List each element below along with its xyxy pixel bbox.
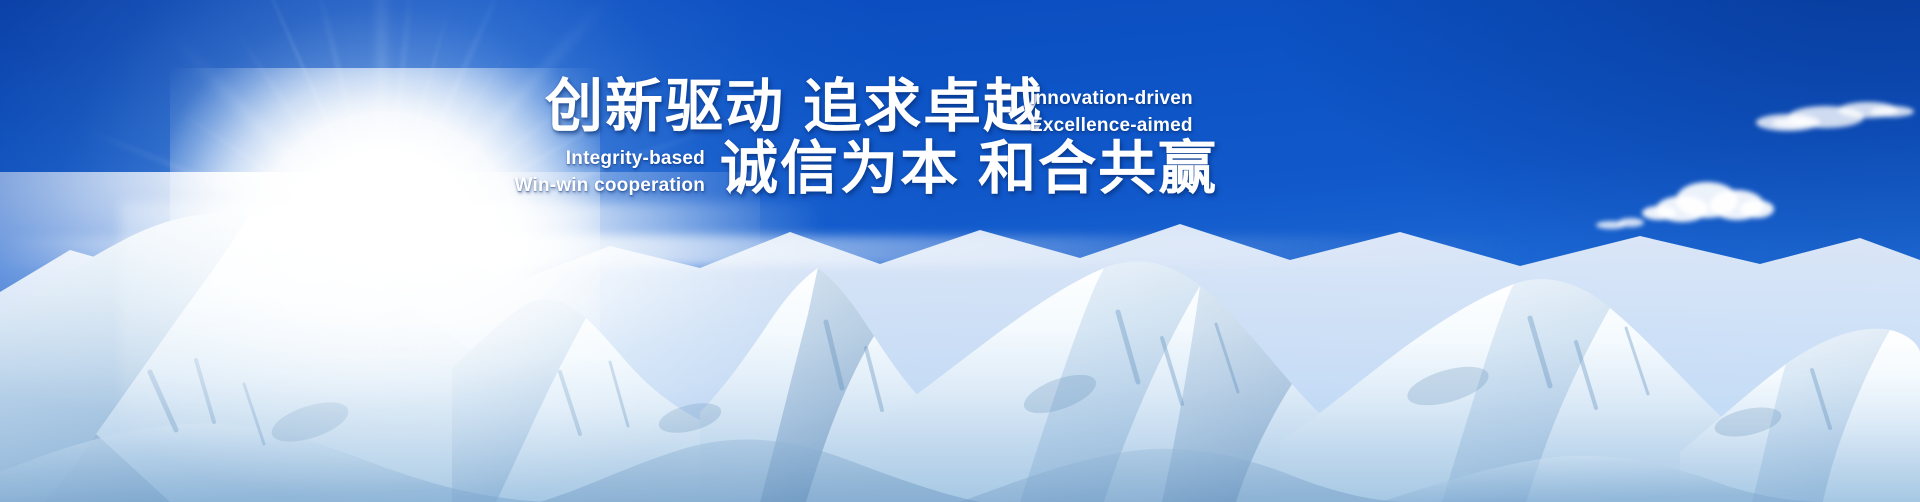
slogan-english-winwin: Win-win cooperation: [420, 173, 705, 200]
snow-mountain-range: [0, 172, 1920, 502]
slogan-english-right: Innovation-driven Excellence-aimed: [1030, 86, 1193, 140]
slogan-english-integrity: Integrity-based: [420, 146, 705, 173]
slogan-chinese-line-2: 诚信为本 和合共赢: [720, 140, 1218, 198]
slogan-chinese-line-1: 创新驱动 追求卓越: [545, 78, 1043, 136]
hero-banner: 创新驱动 追求卓越 Innovation-driven Excellence-a…: [0, 0, 1920, 502]
slogan-english-left: Integrity-based Win-win cooperation: [420, 146, 705, 200]
slogan-english-innovation: Innovation-driven: [1030, 86, 1193, 113]
